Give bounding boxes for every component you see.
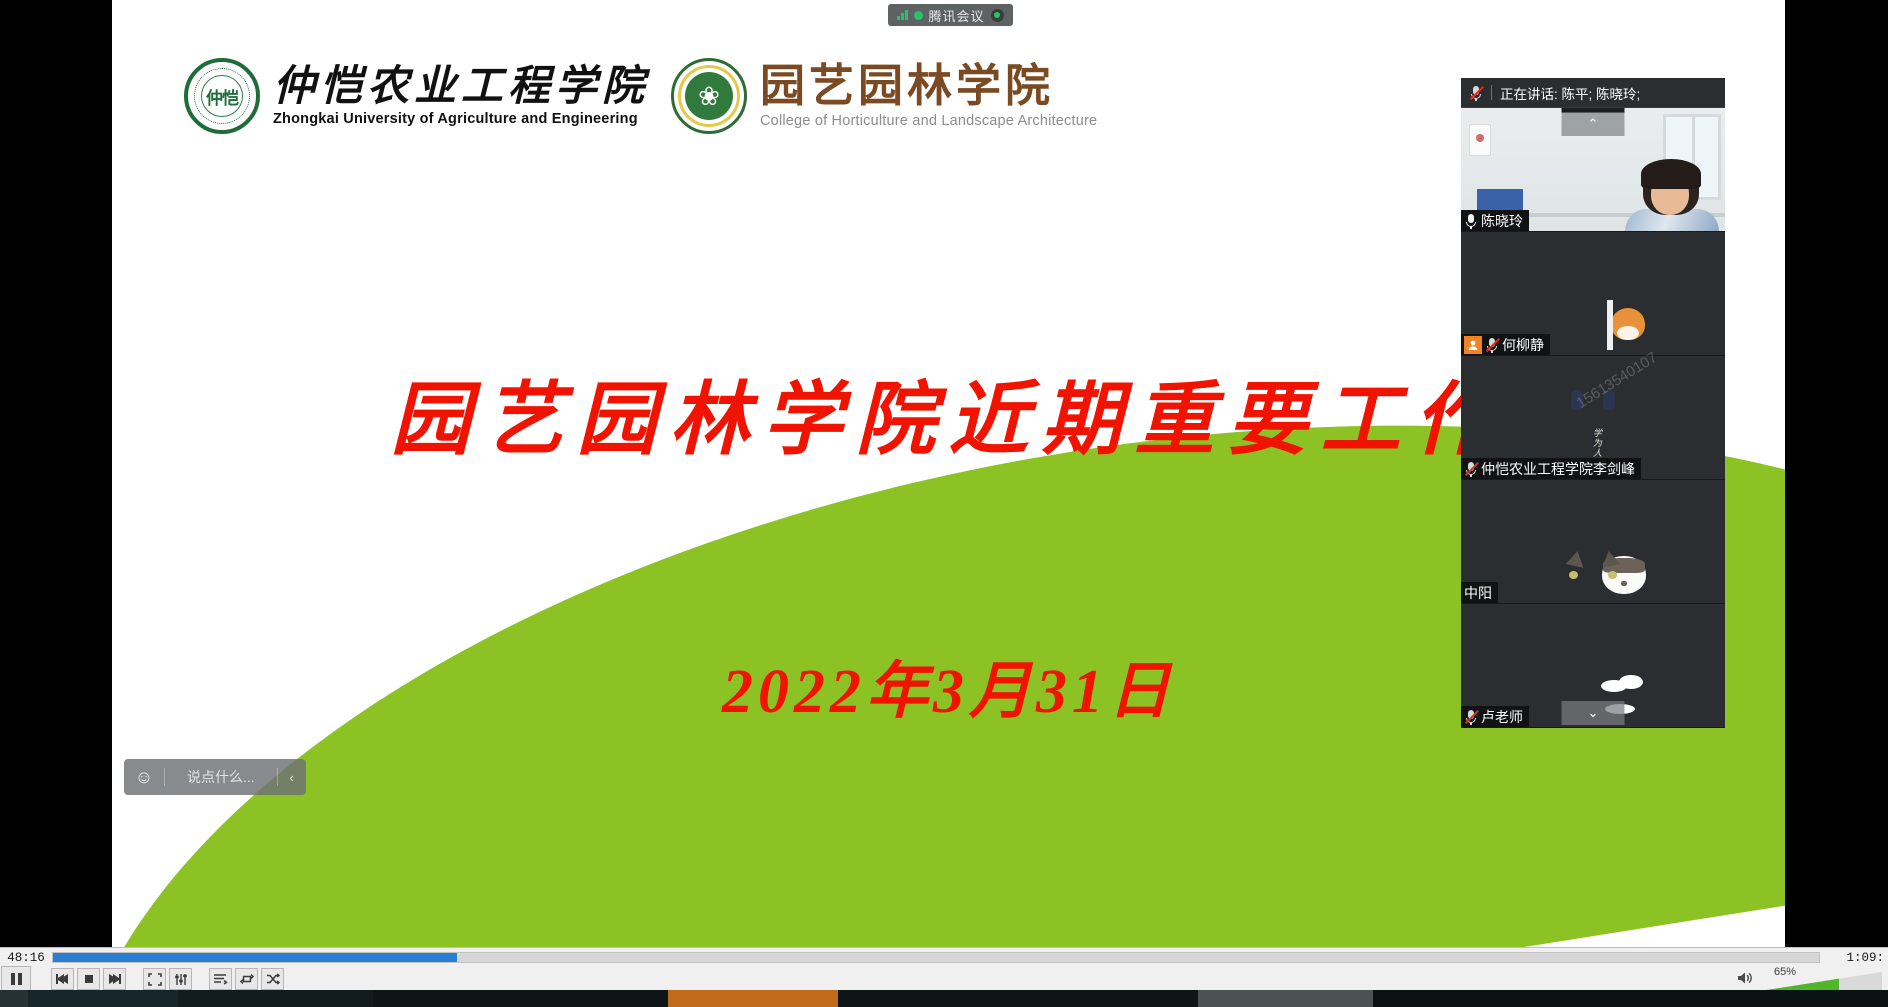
status-dot-icon <box>991 9 1004 22</box>
signal-bars-icon <box>897 10 908 20</box>
participant-name: 中阳 <box>1464 583 1492 603</box>
video-stage: 仲恺 仲恺农业工程学院 Zhongkai University of Agric… <box>0 0 1888 947</box>
volume-slider[interactable] <box>1760 972 1882 991</box>
seek-progress <box>53 953 457 962</box>
seek-bar[interactable] <box>52 952 1820 963</box>
horticulture-name-cn: 园艺园林学院 <box>760 63 1097 110</box>
participant-name-tag: 仲恺农业工程学院李剑峰 <box>1461 458 1641 479</box>
tencent-meeting-indicator[interactable]: 腾讯会议 <box>888 4 1013 26</box>
taskbar-item-active[interactable] <box>668 990 838 1007</box>
zhongkai-name-cn: 仲恺农业工程学院 <box>273 65 649 109</box>
taskbar <box>0 990 1888 1007</box>
volume-control[interactable]: 65% <box>1736 967 1888 991</box>
screen: 仲恺 仲恺农业工程学院 Zhongkai University of Agric… <box>0 0 1888 1007</box>
mic-muted-icon <box>1485 337 1499 353</box>
mic-on-icon <box>1464 213 1478 229</box>
speaking-status-text: 正在讲话: 陈平; 陈晓玲; <box>1500 83 1640 103</box>
participant-name-tag: 陈晓玲 <box>1461 210 1529 231</box>
participant-name: 卢老师 <box>1481 707 1523 727</box>
participants-panel: 正在讲话: 陈平; 陈晓玲; ⌃ <box>1461 78 1725 728</box>
tencent-meeting-label: 腾讯会议 <box>929 6 985 25</box>
participant-name: 何柳静 <box>1502 335 1544 355</box>
taskbar-item[interactable] <box>178 990 373 1007</box>
stop-button[interactable] <box>77 968 100 990</box>
divider <box>1491 85 1492 100</box>
horticulture-college-logo: ❀ 园艺园林学院 College of Horticulture and Lan… <box>671 58 1097 134</box>
speaker-icon[interactable] <box>1736 970 1754 991</box>
next-button[interactable] <box>103 968 126 990</box>
taskbar-item[interactable] <box>838 990 1198 1007</box>
elapsed-time: 48:16 <box>0 951 52 965</box>
horticulture-name-en: College of Horticulture and Landscape Ar… <box>760 113 1097 129</box>
person-hair <box>1641 159 1701 189</box>
previous-button[interactable] <box>51 968 74 990</box>
scroll-up-button[interactable]: ⌃ <box>1562 112 1625 136</box>
equalizer-button[interactable] <box>169 968 192 990</box>
participant-name-tag: 中阳 <box>1461 582 1498 603</box>
fullscreen-button[interactable] <box>143 968 166 990</box>
taskbar-item[interactable] <box>1198 990 1373 1007</box>
loop-button[interactable] <box>235 968 258 990</box>
taskbar-item[interactable] <box>0 990 28 1007</box>
zhongkai-seal-icon: 仲恺 <box>184 58 260 134</box>
play-pause-button[interactable] <box>1 966 31 992</box>
playlist-button[interactable] <box>209 968 232 990</box>
scroll-down-button[interactable]: ⌄ <box>1562 701 1625 725</box>
participant-tile[interactable]: ⌃ 陈晓玲 <box>1461 108 1725 232</box>
participant-name-tag: 何柳静 <box>1461 334 1550 355</box>
chevron-left-icon[interactable]: ‹ <box>278 770 306 785</box>
participant-tile[interactable]: 何柳静 <box>1461 232 1725 356</box>
slide-logos: 仲恺 仲恺农业工程学院 Zhongkai University of Agric… <box>184 58 1097 134</box>
participant-tile[interactable]: 学为人师行为世范 仲恺农业工程学院李剑峰 <box>1461 356 1725 480</box>
seek-row: 48:16 1:09: <box>0 948 1888 967</box>
recording-dot-icon <box>914 11 923 20</box>
emoji-icon[interactable]: ☺ <box>124 767 164 788</box>
participant-tile[interactable]: 中阳 <box>1461 480 1725 604</box>
panel-speaking-header: 正在讲话: 陈平; 陈晓玲; <box>1461 78 1725 108</box>
horticulture-seal-text: ❀ <box>674 61 744 131</box>
shuffle-button[interactable] <box>261 968 284 990</box>
mic-muted-icon <box>1464 709 1478 725</box>
participant-name: 陈晓玲 <box>1481 211 1523 231</box>
participant-tile[interactable]: ⌄ 卢老师 <box>1461 604 1725 728</box>
chat-input-widget[interactable]: ☺ 说点什么... ‹ <box>124 759 306 795</box>
host-badge-icon <box>1464 336 1482 354</box>
picture-decor <box>1469 124 1491 156</box>
total-time: 1:09: <box>1820 951 1888 965</box>
taskbar-empty <box>1373 990 1888 1007</box>
zhongkai-name-en: Zhongkai University of Agriculture and E… <box>273 111 649 127</box>
participant-name-tag: 卢老师 <box>1461 706 1529 727</box>
mic-muted-icon <box>1469 85 1483 101</box>
horticulture-seal-icon: ❀ <box>671 58 747 134</box>
chat-input[interactable]: 说点什么... <box>165 767 277 787</box>
zhongkai-university-logo: 仲恺 仲恺农业工程学院 Zhongkai University of Agric… <box>184 58 649 134</box>
taskbar-item[interactable] <box>28 990 178 1007</box>
zhongkai-seal-text: 仲恺 <box>188 62 256 130</box>
mic-muted-icon <box>1464 461 1478 477</box>
taskbar-item[interactable] <box>373 990 668 1007</box>
player-controls: 65% <box>0 967 1888 991</box>
media-player-bar: 48:16 1:09: <box>0 947 1888 990</box>
participant-name: 仲恺农业工程学院李剑峰 <box>1481 459 1635 479</box>
